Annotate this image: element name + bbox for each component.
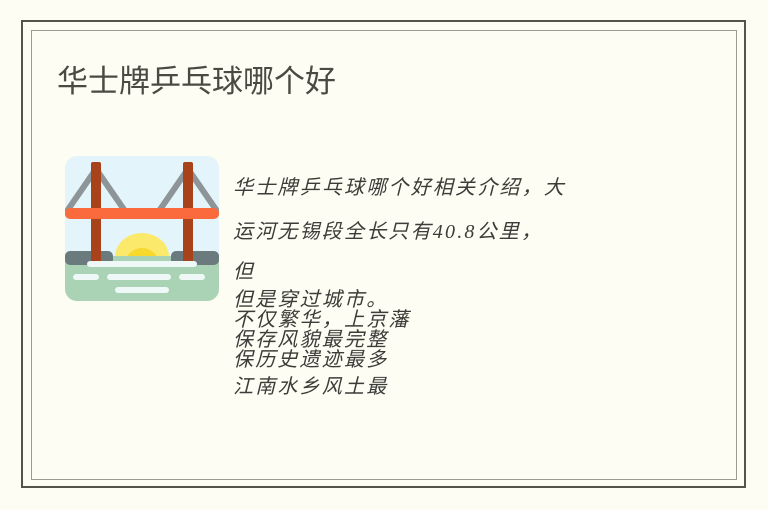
- article-line: 但: [233, 254, 663, 290]
- page-title: 华士牌乒乓球哪个好: [57, 62, 697, 102]
- article-line: 运河无锡段全长只有40.8公里，: [233, 210, 663, 254]
- article-line: 江南水乡风土最: [233, 370, 663, 404]
- article-line: 不仅繁华，上京藩: [233, 310, 663, 330]
- article-line: 保历史遗迹最多: [233, 350, 663, 370]
- page-root: 华士牌乒乓球哪个好: [0, 0, 768, 510]
- article-line: 华士牌乒乓球哪个好相关介绍，大: [233, 166, 663, 210]
- article-block: 华士牌乒乓球哪个好相关介绍，大 运河无锡段全长只有40.8公里， 但 但是穿过城…: [57, 148, 697, 448]
- article-line: 保存风貌最完整: [233, 330, 663, 350]
- bridge-sunset-icon: [65, 156, 219, 301]
- article-body-text: 华士牌乒乓球哪个好相关介绍，大 运河无锡段全长只有40.8公里， 但 但是穿过城…: [233, 166, 663, 404]
- article-line: 但是穿过城市。: [233, 290, 663, 310]
